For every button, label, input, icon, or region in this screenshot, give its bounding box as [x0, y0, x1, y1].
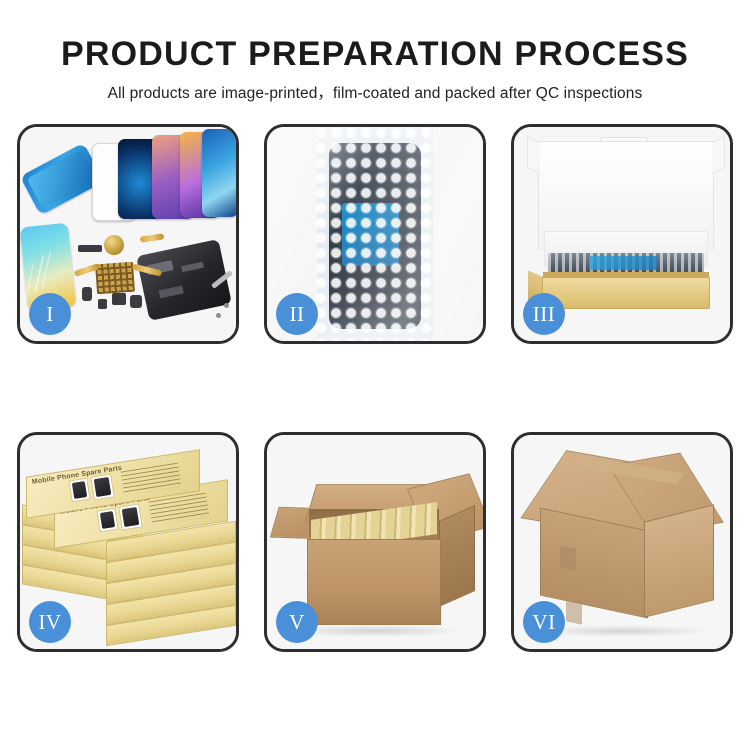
process-step-panel-3[interactable]: III [511, 124, 733, 344]
page-subtitle: All products are image-printed，film-coat… [0, 84, 750, 104]
process-step-panel-1[interactable]: I [17, 124, 239, 344]
header: PRODUCT PREPARATION PROCESS All products… [0, 0, 750, 104]
flex-cable-part [140, 233, 165, 242]
box-label-phone-image [96, 508, 118, 533]
infographic-page: PRODUCT PREPARATION PROCESS All products… [0, 0, 750, 750]
step-badge-2: II [276, 293, 318, 335]
small-chip-part [98, 299, 107, 309]
carton-side-face [644, 504, 714, 617]
step-badge-3: III [523, 293, 565, 335]
box-label-phone-image [68, 478, 90, 503]
step-badge-6: VI [523, 601, 565, 643]
tape-tab [560, 545, 576, 570]
box-front-panel [542, 277, 710, 309]
gold-speaker-part [104, 235, 124, 255]
process-step-grid: I II III [17, 124, 733, 652]
step-badge-1: I [29, 293, 71, 335]
small-chip-part [130, 295, 142, 308]
step-badge-5: V [276, 601, 318, 643]
blue-gradient-phone [202, 129, 238, 217]
process-step-panel-4[interactable]: Mobile Phone Spare Parts Mobile Phone Sp… [17, 432, 239, 652]
carton-side-panel [439, 505, 475, 607]
copper-mesh-part [95, 262, 135, 295]
tape-tab [566, 601, 582, 624]
carton-front-panel [307, 539, 441, 625]
small-chip-part [112, 293, 126, 305]
process-step-panel-2[interactable]: II [264, 124, 486, 344]
box-label-phone-image [118, 504, 142, 531]
process-step-panel-6[interactable]: VI [511, 432, 733, 652]
page-title: PRODUCT PREPARATION PROCESS [0, 34, 750, 74]
box-label-phone-image [90, 474, 114, 501]
small-chip-part [78, 245, 102, 252]
small-chip-part [82, 287, 92, 301]
step-badge-4: IV [29, 601, 71, 643]
screw-part [224, 303, 229, 308]
screw-part [216, 313, 221, 318]
process-step-panel-5[interactable]: V [264, 432, 486, 652]
